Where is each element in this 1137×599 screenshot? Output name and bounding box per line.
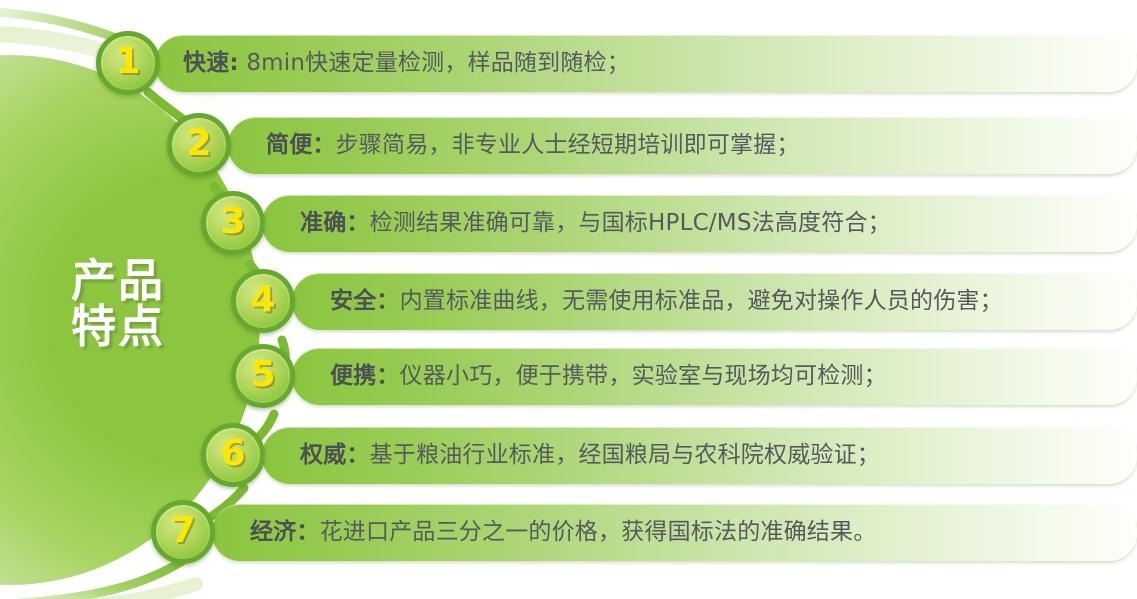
- feature-text: 准确：检测结果准确可靠，与国标HPLC/MS法高度符合；: [300, 195, 891, 251]
- feature-text: 便携：仪器小巧，便于携带，实验室与现场均可检测；: [330, 348, 887, 404]
- feature-number: 4: [250, 282, 275, 318]
- feature-text: 快速: 8min快速定量检测，样品随到随检；: [183, 35, 630, 91]
- feature-label: 权威：: [300, 442, 370, 468]
- feature-label: 安全：: [330, 288, 400, 314]
- feature-body: 仪器小巧，便于携带，实验室与现场均可检测；: [400, 363, 887, 389]
- feature-label: 准确：: [300, 210, 370, 236]
- feature-number-badge[interactable]: 4: [231, 269, 295, 333]
- feature-label: 经济：: [250, 519, 320, 545]
- page-title-line-1: 产品: [48, 258, 188, 304]
- feature-text: 简便：步骤简易，非专业人士经短期培训即可掌握；: [266, 117, 800, 173]
- feature-body: 步骤简易，非专业人士经短期培训即可掌握；: [336, 132, 800, 158]
- feature-row[interactable]: 经济：花进口产品三分之一的价格，获得国标法的准确结果。: [212, 504, 1137, 560]
- feature-text: 权威：基于粮油行业标准，经国粮局与农科院权威验证；: [300, 427, 880, 483]
- feature-label: 简便：: [266, 132, 336, 158]
- feature-number: 6: [220, 436, 245, 472]
- feature-text: 安全：内置标准曲线，无需使用标准品，避免对操作人员的伤害；: [330, 273, 1003, 329]
- feature-number-badge[interactable]: 2: [167, 113, 231, 177]
- feature-number-badge[interactable]: 1: [96, 31, 160, 95]
- feature-number: 2: [186, 126, 211, 162]
- feature-number-badge[interactable]: 7: [151, 500, 215, 564]
- feature-body: 内置标准曲线，无需使用标准品，避免对操作人员的伤害；: [400, 288, 1003, 314]
- feature-number: 7: [170, 513, 195, 549]
- feature-number: 3: [220, 204, 245, 240]
- feature-row[interactable]: 准确：检测结果准确可靠，与国标HPLC/MS法高度符合；: [262, 195, 1137, 251]
- feature-text: 经济：花进口产品三分之一的价格，获得国标法的准确结果。: [250, 504, 876, 560]
- feature-number-badge[interactable]: 3: [201, 191, 265, 255]
- page-title-line-2: 特点: [48, 304, 188, 350]
- feature-body: 基于粮油行业标准，经国粮局与农科院权威验证；: [370, 442, 880, 468]
- feature-number: 1: [115, 44, 140, 80]
- feature-number-badge[interactable]: 5: [231, 344, 295, 408]
- feature-label: 快速:: [183, 50, 239, 76]
- feature-row[interactable]: 快速: 8min快速定量检测，样品随到随检；: [155, 35, 1137, 91]
- feature-row[interactable]: 便携：仪器小巧，便于携带，实验室与现场均可检测；: [292, 348, 1137, 404]
- feature-row[interactable]: 权威：基于粮油行业标准，经国粮局与农科院权威验证；: [262, 427, 1137, 483]
- feature-body: 花进口产品三分之一的价格，获得国标法的准确结果。: [320, 519, 877, 545]
- feature-body: 8min快速定量检测，样品随到随检；: [239, 50, 630, 76]
- feature-number-badge[interactable]: 6: [201, 423, 265, 487]
- feature-row[interactable]: 简便：步骤简易，非专业人士经短期培训即可掌握；: [228, 117, 1137, 173]
- feature-number: 5: [250, 357, 275, 393]
- feature-body: 检测结果准确可靠，与国标HPLC/MS法高度符合；: [370, 210, 891, 236]
- feature-label: 便携：: [330, 363, 400, 389]
- infographic-canvas: 快速: 8min快速定量检测，样品随到随检； 1 简便：步骤简易，非专业人士经短…: [0, 0, 1137, 599]
- page-title: 产品 特点: [48, 258, 188, 350]
- feature-row[interactable]: 安全：内置标准曲线，无需使用标准品，避免对操作人员的伤害；: [292, 273, 1137, 329]
